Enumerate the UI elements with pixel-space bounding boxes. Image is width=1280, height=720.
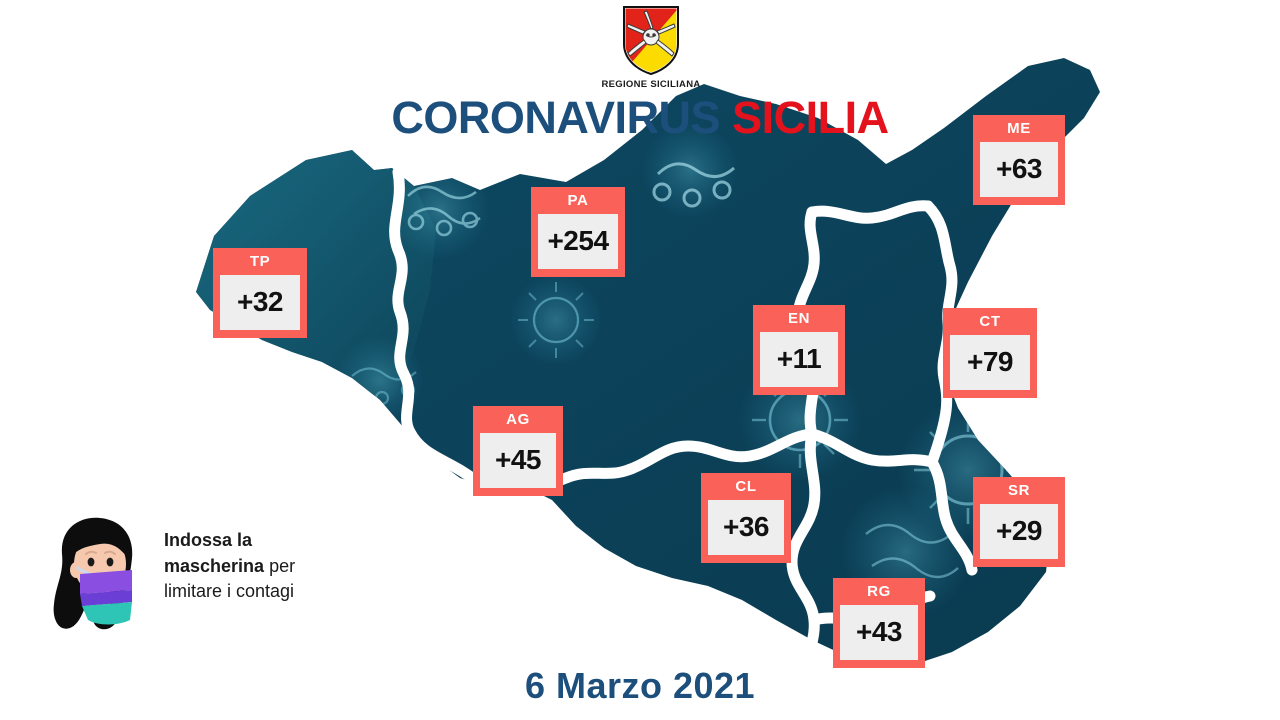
mask-reminder-callout: Indossa la mascherina per limitare i con…	[32, 512, 362, 638]
province-code-label: CT	[950, 313, 1030, 335]
province-code-label: SR	[980, 482, 1058, 504]
mask-line2-regular: per	[264, 556, 295, 576]
mask-line3: limitare i contagi	[164, 581, 294, 601]
province-badge-rg[interactable]: RG+43	[833, 578, 925, 668]
title-secondary: SICILIA	[732, 92, 889, 143]
province-new-cases-value: +29	[980, 504, 1058, 559]
regione-siciliana-logo: REGIONE SICILIANA	[596, 4, 706, 90]
province-badge-ag[interactable]: AG+45	[473, 406, 563, 496]
mask-reminder-text: Indossa la mascherina per limitare i con…	[164, 528, 364, 605]
report-date: 6 Marzo 2021	[0, 665, 1280, 707]
province-new-cases-value: +36	[708, 500, 784, 555]
province-badge-cl[interactable]: CL+36	[701, 473, 791, 563]
province-new-cases-value: +43	[840, 605, 918, 660]
logo-caption: REGIONE SICILIANA	[596, 79, 706, 90]
province-new-cases-value: +11	[760, 332, 838, 387]
province-badge-sr[interactable]: SR+29	[973, 477, 1065, 567]
province-badge-en[interactable]: EN+11	[753, 305, 845, 395]
page-title: CORONAVIRUS SICILIA	[0, 95, 1280, 140]
infographic-canvas: REGIONE SICILIANA CORONAVIRUS SICILIA TP…	[0, 0, 1280, 720]
province-new-cases-value: +63	[980, 142, 1058, 197]
province-code-label: CL	[708, 478, 784, 500]
province-badge-tp[interactable]: TP+32	[213, 248, 307, 338]
province-new-cases-value: +45	[480, 433, 556, 488]
province-badge-me[interactable]: ME+63	[973, 115, 1065, 205]
province-code-label: ME	[980, 120, 1058, 142]
province-code-label: RG	[840, 583, 918, 605]
province-code-label: TP	[220, 253, 300, 275]
province-badge-ct[interactable]: CT+79	[943, 308, 1037, 398]
mask-line2-bold: mascherina	[164, 556, 264, 576]
province-code-label: PA	[538, 192, 618, 214]
province-badge-pa[interactable]: PA+254	[531, 187, 625, 277]
province-new-cases-value: +32	[220, 275, 300, 330]
title-primary: CORONAVIRUS	[391, 92, 720, 143]
province-new-cases-value: +254	[538, 214, 618, 269]
province-new-cases-value: +79	[950, 335, 1030, 390]
province-code-label: AG	[480, 411, 556, 433]
trinacria-shield-icon	[620, 4, 682, 76]
woman-wearing-face-mask-icon	[40, 514, 150, 634]
province-code-label: EN	[760, 310, 838, 332]
mask-line1: Indossa la	[164, 530, 252, 550]
